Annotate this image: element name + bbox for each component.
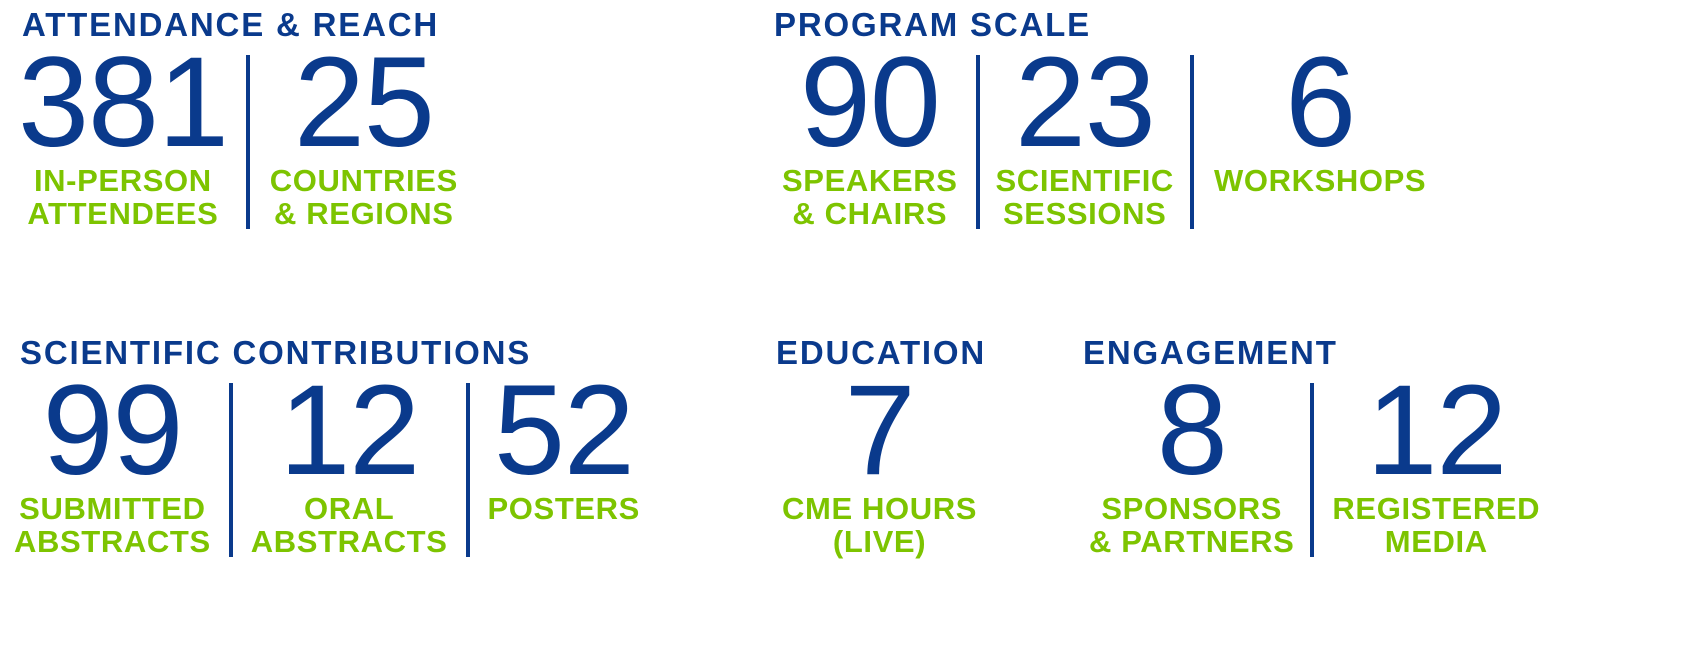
stat-label: POSTERS [488, 492, 640, 525]
stat-label: WORKSHOPS [1214, 164, 1426, 197]
stat-group-education: EDUCATION 7 CME HOURS (LIVE) [770, 336, 989, 559]
stat-submitted-abstracts: 99 SUBMITTED ABSTRACTS [14, 379, 229, 559]
stat-scientific-sessions: 23 SCIENTIFIC SESSIONS [980, 51, 1190, 231]
stat-label: SPONSORS & PARTNERS [1089, 492, 1294, 559]
stat-value: 90 [800, 51, 940, 164]
stat-group-engagement: ENGAGEMENT 8 SPONSORS & PARTNERS 12 REGI… [1075, 336, 1540, 559]
stats-row: 8 SPONSORS & PARTNERS 12 REGISTERED MEDI… [1075, 379, 1540, 559]
stat-in-person-attendees: 381 IN-PERSON ATTENDEES [18, 51, 246, 231]
stat-value: 8 [1157, 379, 1227, 492]
stat-speakers-and-chairs: 90 SPEAKERS & CHAIRS [768, 51, 976, 231]
stat-label-line1: SPEAKERS [782, 163, 958, 198]
stat-label-line2: SESSIONS [996, 197, 1174, 230]
stat-cme-hours-live: 7 CME HOURS (LIVE) [770, 379, 989, 559]
stat-value: 23 [1015, 51, 1155, 164]
stats-row: 381 IN-PERSON ATTENDEES 25 COUNTRIES & R… [18, 51, 458, 231]
stat-workshops: 6 WORKSHOPS [1194, 51, 1426, 231]
stats-row: 7 CME HOURS (LIVE) [770, 379, 989, 559]
stat-label-line2: & CHAIRS [782, 197, 958, 230]
stat-oral-abstracts: 12 ORAL ABSTRACTS [233, 379, 466, 559]
stat-value: 25 [294, 51, 434, 164]
stat-label-line1: WORKSHOPS [1214, 163, 1426, 198]
stat-value: 12 [1366, 379, 1506, 492]
stat-label: COUNTRIES & REGIONS [270, 164, 458, 231]
stat-countries-and-regions: 25 COUNTRIES & REGIONS [250, 51, 458, 231]
stat-label-line1: SUBMITTED [19, 491, 205, 526]
stat-group-program-scale: PROGRAM SCALE 90 SPEAKERS & CHAIRS 23 SC… [768, 8, 1426, 231]
stat-sponsors-and-partners: 8 SPONSORS & PARTNERS [1075, 379, 1310, 559]
stat-label-line1: SPONSORS [1101, 491, 1282, 526]
stat-value: 6 [1285, 51, 1355, 164]
stat-group-scientific-contributions: SCIENTIFIC CONTRIBUTIONS 99 SUBMITTED AB… [14, 336, 640, 559]
stat-value: 381 [18, 51, 228, 164]
stat-label-line1: ORAL [304, 491, 394, 526]
stat-label-line1: SCIENTIFIC [996, 163, 1174, 198]
stat-label: SPEAKERS & CHAIRS [782, 164, 958, 231]
stat-label-line2: MEDIA [1332, 525, 1540, 558]
stat-label: REGISTERED MEDIA [1332, 492, 1540, 559]
stat-label: IN-PERSON ATTENDEES [27, 164, 218, 231]
stat-label-line1: POSTERS [488, 491, 640, 526]
stat-value: 7 [845, 379, 915, 492]
stat-label-line2: & REGIONS [270, 197, 458, 230]
stat-value: 12 [279, 379, 419, 492]
stat-label-line1: IN-PERSON [34, 163, 212, 198]
stats-infographic: ATTENDANCE & REACH 381 IN-PERSON ATTENDE… [0, 0, 1700, 667]
stats-row: 99 SUBMITTED ABSTRACTS 12 ORAL ABSTRACTS… [14, 379, 640, 559]
stat-label-line2: ABSTRACTS [14, 525, 211, 558]
stat-label: ORAL ABSTRACTS [251, 492, 448, 559]
stat-label-line2: ATTENDEES [27, 197, 218, 230]
stats-row: 90 SPEAKERS & CHAIRS 23 SCIENTIFIC SESSI… [768, 51, 1426, 231]
stat-posters: 52 POSTERS [470, 379, 640, 559]
stat-label-line2: & PARTNERS [1089, 525, 1294, 558]
stat-value: 52 [494, 379, 634, 492]
stat-group-attendance-and-reach: ATTENDANCE & REACH 381 IN-PERSON ATTENDE… [18, 8, 458, 231]
stat-value: 99 [42, 379, 182, 492]
stat-label-line2: (LIVE) [782, 525, 977, 558]
stat-label-line1: REGISTERED [1332, 491, 1540, 526]
stat-label-line1: COUNTRIES [270, 163, 458, 198]
stat-label: CME HOURS (LIVE) [782, 492, 977, 559]
stat-label: SCIENTIFIC SESSIONS [996, 164, 1174, 231]
stat-label-line2: ABSTRACTS [251, 525, 448, 558]
stat-registered-media: 12 REGISTERED MEDIA [1314, 379, 1540, 559]
stat-label-line1: CME HOURS [782, 491, 977, 526]
stat-label: SUBMITTED ABSTRACTS [14, 492, 211, 559]
